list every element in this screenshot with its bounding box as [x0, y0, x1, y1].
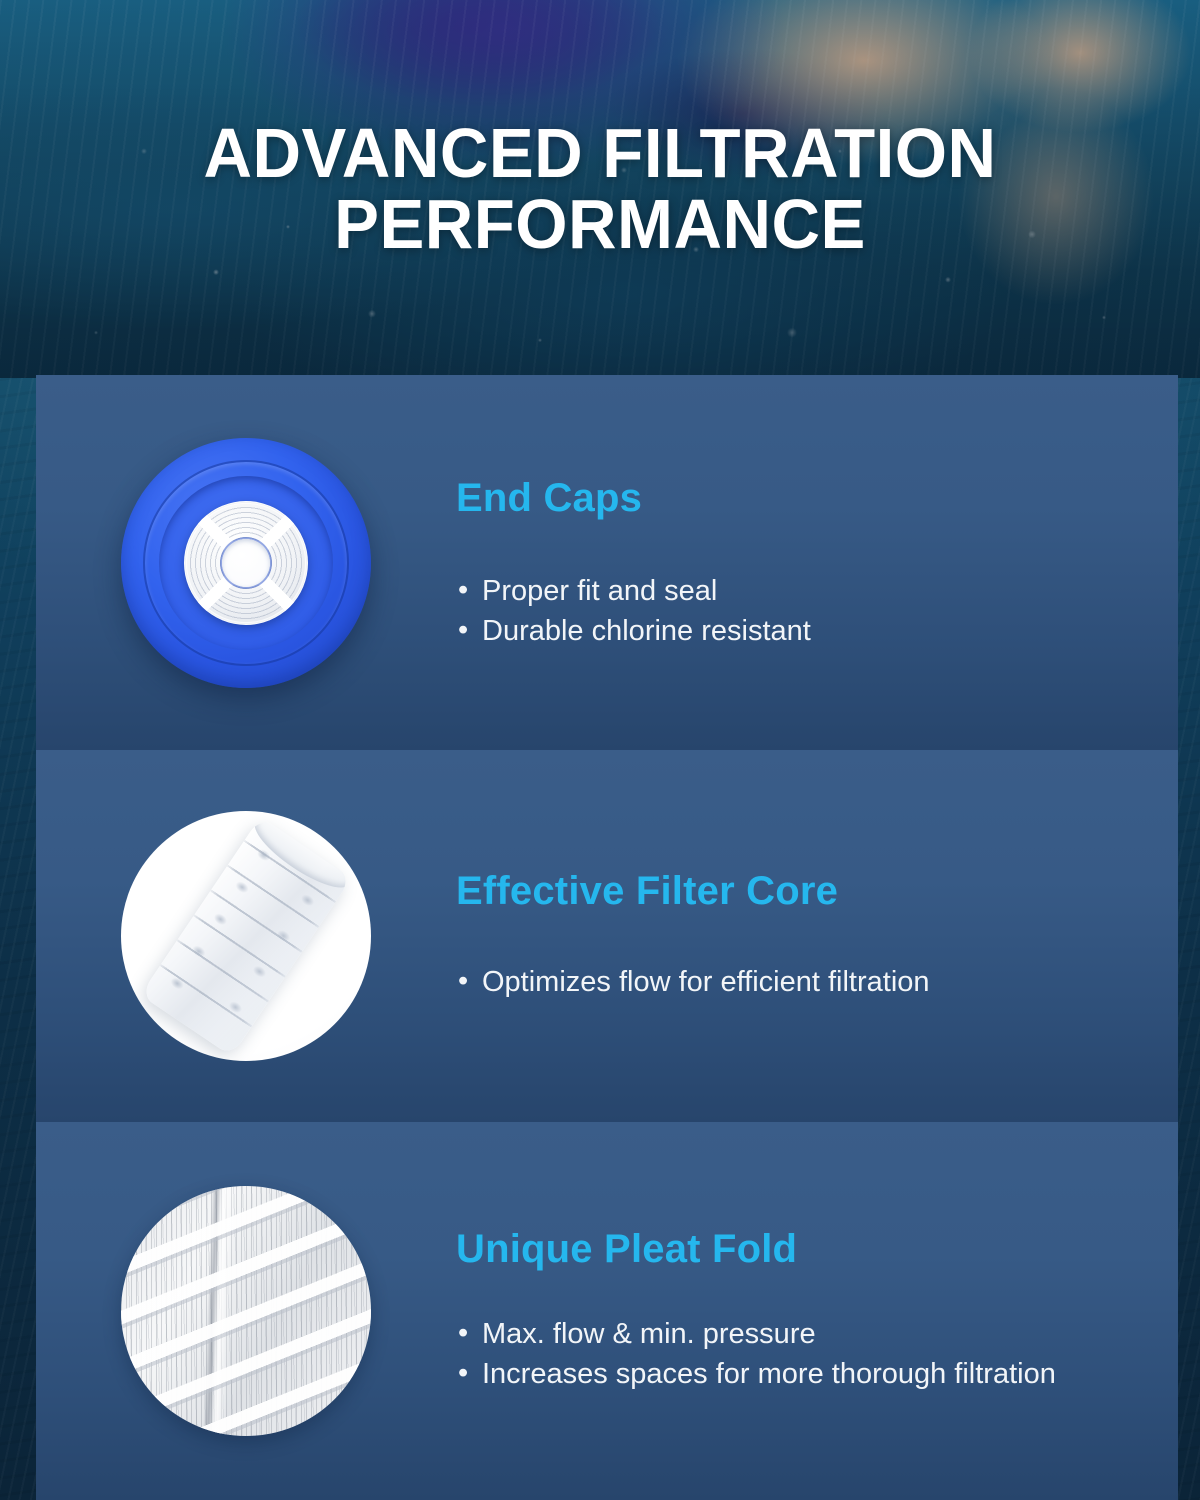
feature-bullets-end-caps: Proper fit and seal Durable chlorine res… [456, 573, 1148, 650]
end-cap-icon [121, 438, 371, 688]
pleat-fold-highlight [121, 1186, 371, 1436]
pleat-fold-icon [121, 1186, 371, 1436]
bullet-item: Max. flow & min. pressure [456, 1316, 1148, 1354]
feature-bullets-pleat-fold: Max. flow & min. pressure Increases spac… [456, 1316, 1148, 1393]
feature-copy-filter-core: Effective Filter Core Optimizes flow for… [456, 869, 1178, 1004]
feature-title-end-caps: End Caps [456, 476, 1148, 521]
page-title: ADVANCED FILTRATION PERFORMANCE [24, 118, 1176, 261]
feature-image-end-caps [36, 438, 456, 688]
bullet-item: Durable chlorine resistant [456, 613, 1148, 651]
feature-title-pleat-fold: Unique Pleat Fold [456, 1227, 1148, 1272]
feature-card-filter-core: Effective Filter Core Optimizes flow for… [36, 750, 1178, 1122]
bullet-item: Increases spaces for more thorough filtr… [456, 1356, 1148, 1394]
filter-core-top-cap [246, 817, 351, 899]
feature-bullets-filter-core: Optimizes flow for efficient filtration [456, 964, 1148, 1002]
infographic-page: ADVANCED FILTRATION PERFORMANCE End Caps… [0, 0, 1200, 1500]
feature-title-filter-core: Effective Filter Core [456, 869, 1148, 914]
filter-core-icon [121, 811, 371, 1061]
bullet-item: Proper fit and seal [456, 573, 1148, 611]
feature-card-end-caps: End Caps Proper fit and seal Durable chl… [36, 375, 1178, 750]
feature-image-filter-core [36, 811, 456, 1061]
feature-copy-end-caps: End Caps Proper fit and seal Durable chl… [456, 472, 1178, 652]
feature-image-pleat-fold [36, 1186, 456, 1436]
bullet-item: Optimizes flow for efficient filtration [456, 964, 1148, 1002]
feature-card-pleat-fold: Unique Pleat Fold Max. flow & min. press… [36, 1122, 1178, 1500]
feature-card-list: End Caps Proper fit and seal Durable chl… [36, 375, 1178, 1500]
feature-copy-pleat-fold: Unique Pleat Fold Max. flow & min. press… [456, 1227, 1178, 1395]
filter-core-tube [140, 817, 351, 1057]
hero-banner: ADVANCED FILTRATION PERFORMANCE [0, 0, 1200, 378]
end-cap-center-bore [222, 539, 270, 587]
